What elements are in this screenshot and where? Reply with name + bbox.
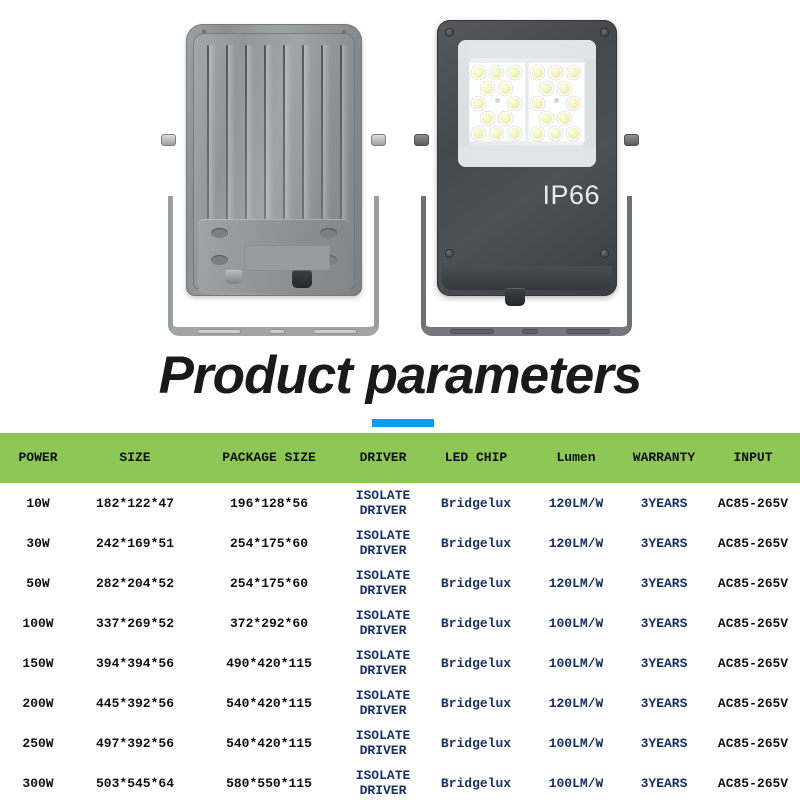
cell-led-chip: Bridgelux: [422, 763, 530, 800]
table-header: POWER SIZE PACKAGE SIZE DRIVER LED CHIP …: [0, 433, 800, 483]
cable-gland: [505, 288, 525, 306]
column-header-size: SIZE: [76, 433, 194, 483]
cell-input: AC85-265V: [706, 683, 800, 723]
ip-rating-label: IP66: [542, 180, 600, 211]
table-row: 300W 503*545*64 580*550*115 ISOLATE DRIV…: [0, 763, 800, 800]
cell-size: 242*169*51: [76, 523, 194, 563]
bracket-slot: [197, 329, 241, 334]
led-board-center-dot: [495, 98, 500, 103]
cell-package-size: 372*292*60: [194, 603, 344, 643]
cell-warranty: 3YEARS: [622, 523, 706, 563]
bracket-knob-right: [624, 134, 639, 146]
table-row: 200W 445*392*56 540*420*115 ISOLATE DRIV…: [0, 683, 800, 723]
table-body: 10W 182*122*47 196*128*56 ISOLATE DRIVER…: [0, 483, 800, 800]
cell-package-size: 490*420*115: [194, 643, 344, 683]
cell-input: AC85-265V: [706, 523, 800, 563]
cell-lumen: 120LM/W: [530, 683, 622, 723]
led-module-right: [528, 62, 585, 142]
lens-reflector-assembly: [458, 40, 596, 167]
cell-warranty: 3YEARS: [622, 563, 706, 603]
cell-driver: ISOLATE DRIVER: [344, 563, 422, 603]
junction-box-cover: [198, 219, 350, 293]
column-header-power: POWER: [0, 433, 76, 483]
product-spec-page: IP66 Product parameters POWER SIZE PACKA…: [0, 0, 800, 800]
cell-driver: ISOLATE DRIVER: [344, 723, 422, 763]
cell-input: AC85-265V: [706, 643, 800, 683]
bracket-slot: [313, 329, 357, 334]
product-parameters-table: POWER SIZE PACKAGE SIZE DRIVER LED CHIP …: [0, 433, 800, 800]
cell-led-chip: Bridgelux: [422, 643, 530, 683]
cell-lumen: 100LM/W: [530, 763, 622, 800]
cell-driver: ISOLATE DRIVER: [344, 603, 422, 643]
cell-led-chip: Bridgelux: [422, 603, 530, 643]
table-row: 30W 242*169*51 254*175*60 ISOLATE DRIVER…: [0, 523, 800, 563]
housing-screw: [600, 249, 609, 258]
cell-lumen: 120LM/W: [530, 483, 622, 523]
cell-warranty: 3YEARS: [622, 603, 706, 643]
cell-power: 10W: [0, 483, 76, 523]
table-row: 150W 394*394*56 490*420*115 ISOLATE DRIV…: [0, 643, 800, 683]
bracket-slot: [522, 329, 538, 334]
cell-power: 200W: [0, 683, 76, 723]
cell-lumen: 120LM/W: [530, 563, 622, 603]
cell-driver: ISOLATE DRIVER: [344, 523, 422, 563]
column-header-package-size: PACKAGE SIZE: [194, 433, 344, 483]
cell-led-chip: Bridgelux: [422, 483, 530, 523]
cell-power: 30W: [0, 523, 76, 563]
column-header-driver: DRIVER: [344, 433, 422, 483]
bracket-knob-left: [161, 134, 176, 146]
led-board: [469, 62, 585, 142]
cell-package-size: 580*550*115: [194, 763, 344, 800]
cell-input: AC85-265V: [706, 723, 800, 763]
product-image-front-view: IP66: [419, 8, 634, 340]
housing-screw: [445, 28, 454, 37]
housing-screw: [445, 249, 454, 258]
cell-warranty: 3YEARS: [622, 643, 706, 683]
table-row: 250W 497*392*56 540*420*115 ISOLATE DRIV…: [0, 723, 800, 763]
cell-package-size: 196*128*56: [194, 483, 344, 523]
cell-power: 250W: [0, 723, 76, 763]
cell-led-chip: Bridgelux: [422, 683, 530, 723]
cell-warranty: 3YEARS: [622, 483, 706, 523]
cell-power: 300W: [0, 763, 76, 800]
page-title: Product parameters: [0, 346, 800, 406]
cable-gland-small: [225, 270, 242, 284]
column-header-lumen: Lumen: [530, 433, 622, 483]
cell-warranty: 3YEARS: [622, 683, 706, 723]
cell-size: 182*122*47: [76, 483, 194, 523]
cell-input: AC85-265V: [706, 483, 800, 523]
cell-size: 445*392*56: [76, 683, 194, 723]
table-row: 50W 282*204*52 254*175*60 ISOLATE DRIVER…: [0, 563, 800, 603]
cell-lumen: 100LM/W: [530, 723, 622, 763]
cell-size: 282*204*52: [76, 563, 194, 603]
led-board-center-dot: [554, 98, 559, 103]
title-accent-bar: [372, 419, 434, 427]
cell-size: 497*392*56: [76, 723, 194, 763]
cell-driver: ISOLATE DRIVER: [344, 683, 422, 723]
table-header-row: POWER SIZE PACKAGE SIZE DRIVER LED CHIP …: [0, 433, 800, 483]
section-title-wrap: Product parameters: [0, 346, 800, 406]
cell-lumen: 100LM/W: [530, 643, 622, 683]
cell-package-size: 254*175*60: [194, 523, 344, 563]
cell-input: AC85-265V: [706, 563, 800, 603]
cell-lumen: 120LM/W: [530, 523, 622, 563]
cell-size: 394*394*56: [76, 643, 194, 683]
cell-package-size: 254*175*60: [194, 563, 344, 603]
cell-power: 50W: [0, 563, 76, 603]
cell-input: AC85-265V: [706, 763, 800, 800]
cell-size: 503*545*64: [76, 763, 194, 800]
table-row: 100W 337*269*52 372*292*60 ISOLATE DRIVE…: [0, 603, 800, 643]
cell-lumen: 100LM/W: [530, 603, 622, 643]
cell-input: AC85-265V: [706, 603, 800, 643]
column-header-led-chip: LED CHIP: [422, 433, 530, 483]
bracket-slot: [566, 329, 610, 334]
cell-driver: ISOLATE DRIVER: [344, 483, 422, 523]
cell-driver: ISOLATE DRIVER: [344, 763, 422, 800]
bracket-knob-left: [414, 134, 429, 146]
cell-led-chip: Bridgelux: [422, 723, 530, 763]
bracket-knob-right: [371, 134, 386, 146]
product-image-gallery: IP66: [0, 0, 800, 345]
housing-bottom-band: [442, 266, 612, 290]
cell-led-chip: Bridgelux: [422, 523, 530, 563]
cell-size: 337*269*52: [76, 603, 194, 643]
heatsink-panel: [193, 33, 355, 289]
cell-package-size: 540*420*115: [194, 723, 344, 763]
product-image-back-view: [166, 8, 381, 340]
bracket-slot: [269, 329, 285, 334]
housing-screw: [600, 28, 609, 37]
cell-power: 100W: [0, 603, 76, 643]
column-header-warranty: WARRANTY: [622, 433, 706, 483]
cable-gland: [292, 270, 312, 288]
column-header-input: INPUT: [706, 433, 800, 483]
cell-package-size: 540*420*115: [194, 683, 344, 723]
cell-led-chip: Bridgelux: [422, 563, 530, 603]
product-label-plate: [244, 245, 330, 271]
cell-driver: ISOLATE DRIVER: [344, 643, 422, 683]
flood-light-housing-back: [186, 24, 362, 296]
cell-power: 150W: [0, 643, 76, 683]
flood-light-housing-front: IP66: [437, 20, 617, 296]
bracket-slot: [450, 329, 494, 334]
cell-warranty: 3YEARS: [622, 763, 706, 800]
cell-warranty: 3YEARS: [622, 723, 706, 763]
led-module-left: [469, 62, 526, 142]
table-row: 10W 182*122*47 196*128*56 ISOLATE DRIVER…: [0, 483, 800, 523]
